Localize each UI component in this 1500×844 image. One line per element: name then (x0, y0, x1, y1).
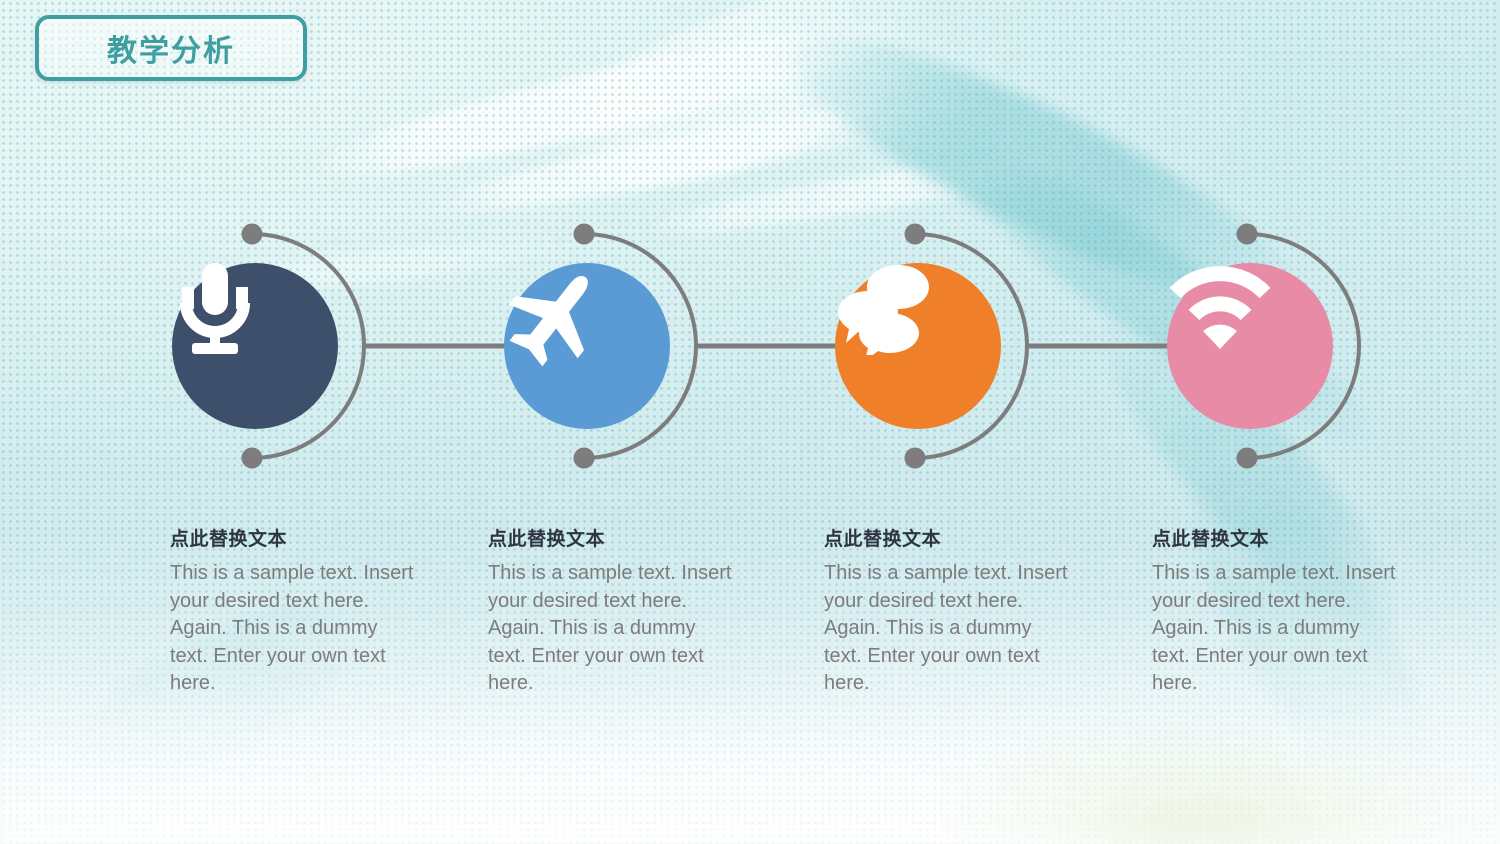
arc-dot-top-2 (574, 224, 595, 245)
column-heading: 点此替换文本 (1152, 524, 1402, 551)
column-body: This is a sample text. Insert your desir… (1152, 560, 1402, 698)
microphone-icon (172, 263, 258, 359)
column-body: This is a sample text. Insert your desir… (170, 560, 420, 698)
airplane-icon (504, 263, 608, 367)
column-heading: 点此替换文本 (170, 524, 420, 551)
arc-dot-bottom-2 (574, 448, 595, 469)
node-circle-microphone[interactable] (172, 263, 338, 429)
node-circle-wifi[interactable] (1167, 263, 1333, 429)
column-heading: 点此替换文本 (824, 524, 1074, 551)
arc-dot-top-1 (242, 224, 263, 245)
node-circle-speech-bubbles[interactable] (835, 263, 1001, 429)
column-body: This is a sample text. Insert your desir… (488, 560, 738, 698)
column-body: This is a sample text. Insert your desir… (824, 560, 1074, 698)
arc-dot-top-3 (905, 224, 926, 245)
text-column-1: 点此替换文本 This is a sample text. Insert you… (170, 524, 420, 698)
text-column-2: 点此替换文本 This is a sample text. Insert you… (488, 524, 738, 698)
arc-dot-bottom-3 (905, 448, 926, 469)
column-heading: 点此替换文本 (488, 524, 738, 551)
text-column-4: 点此替换文本 This is a sample text. Insert you… (1152, 524, 1402, 698)
node-circle-airplane[interactable] (504, 263, 670, 429)
arc-dot-bottom-1 (242, 448, 263, 469)
arc-dot-top-4 (1237, 224, 1258, 245)
text-column-3: 点此替换文本 This is a sample text. Insert you… (824, 524, 1074, 698)
slide-canvas: 教学分析 (0, 0, 1500, 844)
arc-dot-bottom-4 (1237, 448, 1258, 469)
speech-bubbles-icon (835, 263, 935, 355)
process-diagram (0, 0, 1500, 500)
wifi-icon (1167, 263, 1273, 349)
